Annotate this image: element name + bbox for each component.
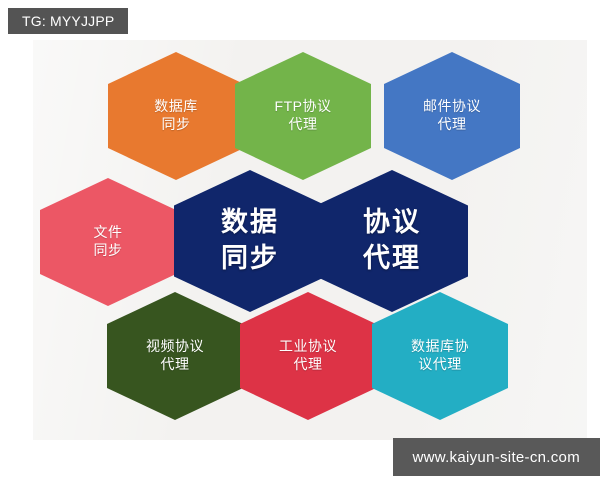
hexagon-file-sync[interactable]: 文件 同步 [40,178,176,306]
hexagon-data-sync-line2: 同步 [221,241,279,277]
hexagon-database-protocol-proxy-line1: 数据库协 [411,338,469,356]
hexagon-industrial-proxy-line2: 代理 [294,356,323,374]
hexagon-ftp-proxy-line2: 代理 [289,116,318,134]
hexagon-mail-proxy-line1: 邮件协议 [423,98,481,116]
hexagon-mail-proxy[interactable]: 邮件协议 代理 [384,52,520,180]
hexagon-protocol-proxy[interactable]: 协议 代理 [316,170,468,312]
hexagon-db-sync-line1: 数据库 [154,98,198,116]
hexagon-ftp-proxy[interactable]: FTP协议 代理 [235,52,371,180]
hexagon-db-sync-line2: 同步 [162,116,191,134]
hexagon-ftp-proxy-line1: FTP协议 [275,98,332,116]
hexagon-file-sync-line2: 同步 [94,242,123,260]
hexagon-db-sync[interactable]: 数据库 同步 [108,52,244,180]
honeycomb-diagram: 数据库 同步 FTP协议 代理 邮件协议 代理 文件 同步 数据 同步 协议 代… [0,0,600,480]
hexagon-mail-proxy-line2: 代理 [438,116,467,134]
hexagon-video-proxy[interactable]: 视频协议 代理 [107,292,243,420]
hexagon-industrial-proxy-line1: 工业协议 [279,338,337,356]
hexagon-file-sync-line1: 文件 [94,224,123,242]
tg-badge: TG: MYYJJPP [8,8,128,34]
hexagon-industrial-proxy[interactable]: 工业协议 代理 [240,292,376,420]
hexagon-video-proxy-line2: 代理 [161,356,190,374]
hexagon-data-sync[interactable]: 数据 同步 [174,170,326,312]
hexagon-protocol-proxy-line2: 代理 [363,241,421,277]
hexagon-data-sync-line1: 数据 [221,205,279,241]
hexagon-database-protocol-proxy-line2: 议代理 [418,356,462,374]
hexagon-video-proxy-line1: 视频协议 [146,338,204,356]
hexagon-protocol-proxy-line1: 协议 [363,205,421,241]
watermark-url: www.kaiyun-site-cn.com [393,438,600,476]
